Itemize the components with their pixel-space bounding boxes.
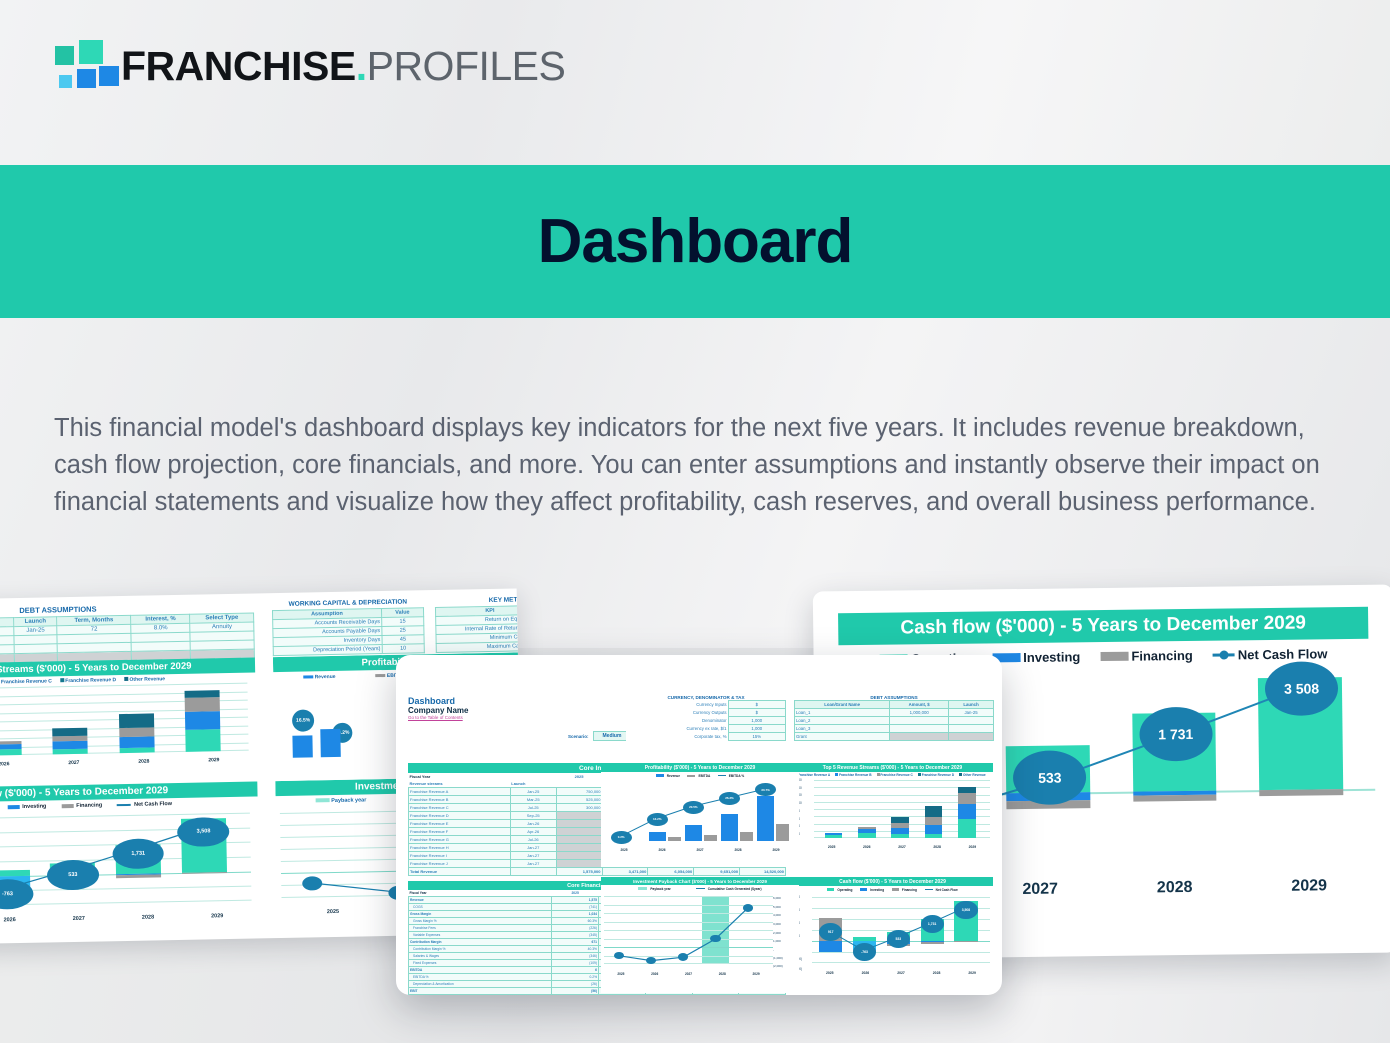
cell: Franchise Revenue G — [409, 836, 511, 844]
center-currency-block[interactable]: CURRENCY, DENOMINATOR & TAX Currency Inp… — [626, 695, 786, 741]
cell: Contribution Margin % — [409, 946, 552, 953]
cell: (24) — [739, 995, 786, 996]
legend-item: Franchise Revenue B — [835, 773, 871, 777]
company-name: Company Name — [408, 706, 468, 715]
page-title: Dashboard — [538, 206, 853, 277]
table-row: Total Revenue1,575,0003,471,0006,054,000… — [409, 868, 786, 876]
cell: (226) — [552, 925, 599, 932]
legend-item: EBITDA — [687, 774, 710, 778]
cell: 1,034 — [552, 911, 599, 918]
cell[interactable]: 15% — [728, 733, 785, 741]
cell: Contribution Margin — [409, 939, 552, 946]
cell: Franchise Revenue B — [409, 796, 511, 804]
table-row: Corporate tax, %15% — [626, 733, 786, 741]
section-title: KEY METRICS — [435, 595, 523, 605]
chart-plot: 16,000 14,000 12,000 10,000 8,000 6,000 … — [792, 778, 993, 848]
cell: Franchise Revenue J — [409, 860, 511, 868]
center-profitability-chart[interactable]: Profitability ($'000) - 5 Years to Decem… — [601, 763, 799, 867]
brand-name-dot: . — [356, 43, 367, 89]
cell: 1,575,000 — [556, 868, 602, 876]
legend-item: Financing — [892, 888, 917, 892]
col-head: Launch — [949, 701, 994, 709]
cell — [949, 733, 994, 741]
x-axis: 2025 2026 2027 2028 2029 — [0, 913, 252, 926]
cell: Total Revenue — [409, 868, 511, 876]
cell[interactable] — [890, 717, 949, 725]
legend-item: Franchise Revenue D — [60, 677, 116, 684]
left-cashflow-chart[interactable]: Cash flow ($'000) - 5 Years to December … — [0, 781, 260, 938]
cell: 1,575 — [552, 897, 599, 904]
data-label: 3,508 — [954, 901, 977, 919]
cell: 6 — [552, 967, 599, 974]
chart-title: Investment Payback Chart ($'000) - 5 Yea… — [601, 877, 799, 885]
cell[interactable]: Jan-25 — [949, 709, 994, 717]
cell[interactable]: Apr-26 — [510, 828, 556, 836]
cell[interactable] — [890, 725, 949, 733]
chart-title: Profitability ($'000) - 5 Years to Decem… — [601, 763, 799, 772]
center-revenue-streams-chart[interactable]: Top 5 Revenue Streams ($'000) - 5 Years … — [792, 763, 993, 867]
cell: Currency Outputs — [626, 709, 728, 717]
table-row: Currency ex rate, $/11,000 — [626, 725, 786, 733]
legend-item: Other Revenue — [959, 773, 986, 777]
cell — [890, 733, 949, 741]
cell: Depreciation Period (Years) — [273, 645, 382, 656]
legend-item: Payback year — [638, 887, 670, 891]
brand-logo: FRANCHISE.PROFILES — [55, 40, 565, 92]
scenario-label: Scenario: — [568, 734, 589, 739]
fiscal-year-label: Fiscal Year — [409, 773, 511, 780]
cell: Revenue — [409, 897, 552, 904]
chart-legend: Revenue EBITDA EBITDA % — [601, 772, 799, 779]
table-row: Loan_11,000,000Jan-25 — [795, 709, 994, 717]
table-row: Currency Outputs$ — [626, 709, 786, 717]
left-revenue-streams-chart[interactable]: Top 5 Revenue Streams ($'000) - 5 Years … — [0, 657, 257, 783]
cell — [556, 820, 602, 828]
cell: EBIT — [409, 988, 552, 995]
cell: Franchise Revenue F — [409, 828, 511, 836]
legend-item: Investing — [7, 804, 46, 811]
cell: Gross Margin % — [409, 918, 552, 925]
cell: 60.3% — [552, 918, 599, 925]
cell: (7) — [552, 995, 599, 996]
table-row: Loan_3 — [795, 725, 994, 733]
cell: (346) — [552, 953, 599, 960]
description-text: This financial model's dashboard display… — [54, 410, 1344, 521]
cell: Franchise Revenue A — [409, 788, 511, 796]
table-row: Loan_2 — [795, 717, 994, 725]
x-axis: 2025 2026 2027 2028 2029 — [0, 757, 249, 770]
cell — [510, 868, 556, 876]
legend-item: EBITDA % — [718, 774, 744, 778]
cell: (64) — [599, 995, 646, 996]
legend-item: Franchise Revenue D — [918, 773, 954, 777]
chart-plot: 16,000 14,000 12,000 10,000 8,000 6,000 … — [0, 683, 253, 768]
cell: Corporate tax, % — [626, 733, 728, 741]
chart-plot: 6,000 5,000 4,000 3,000 2,000 1,000 - (1… — [601, 892, 799, 976]
col-head: Launch — [510, 780, 556, 788]
legend-item: Franchise Revenue C — [877, 773, 913, 777]
cell: 14,520,000 — [740, 868, 786, 876]
legend-item: Net Cash Flow — [117, 801, 172, 808]
cell[interactable]: 300,000 — [556, 804, 602, 812]
chart-title: Cash flow ($'000) - 5 Years to December … — [792, 877, 993, 886]
title-band: Dashboard — [0, 165, 1390, 318]
cell[interactable]: Loan_3 — [795, 725, 890, 733]
cell[interactable] — [949, 717, 994, 725]
cell[interactable]: 750,000 — [556, 788, 602, 796]
data-label-2028: 1 731 — [1139, 707, 1212, 762]
squares-logo-icon — [55, 40, 107, 92]
left-key-metrics[interactable]: KEY METRICS KPIValue Return on Equity (R… — [435, 595, 523, 653]
table-row: Interest Expense(7)(64)(5)(2)(24) — [409, 995, 786, 996]
cell: 40.3% — [552, 946, 599, 953]
chart-plot: 4,000 3,000 2,000 1,000 - (1,000) (2,000… — [792, 893, 993, 975]
toc-link[interactable]: Go to the Table of Contents — [408, 715, 468, 720]
legend-item-investing: Investing — [992, 649, 1080, 665]
legend-item: Revenue — [303, 674, 335, 681]
data-label: 20.5% — [683, 801, 704, 814]
legend-item: Payback year — [316, 797, 367, 804]
legend-item-net-cash-flow: Net Cash Flow — [1213, 646, 1328, 662]
cell: Currency Inputs — [626, 701, 728, 709]
data-label: 26.3% — [719, 792, 740, 805]
cell — [556, 860, 602, 868]
cell — [556, 844, 602, 852]
brand-name-light: PROFILES — [367, 43, 566, 89]
legend-item: Financing — [61, 802, 102, 809]
cell: 3,471,000 — [602, 868, 648, 876]
cell: 0.2% — [552, 974, 599, 981]
cell[interactable]: Jan-25 — [510, 788, 556, 796]
cell[interactable]: Jan-27 — [510, 844, 556, 852]
cell[interactable]: Loan_2 — [795, 717, 890, 725]
cell[interactable]: Jan-26 — [510, 820, 556, 828]
col-head: Revenue streams — [409, 780, 511, 788]
cell: Franchise Revenue D — [409, 812, 511, 820]
cell: Franchise Revenue H — [409, 844, 511, 852]
cell[interactable] — [949, 725, 994, 733]
cell: Depreciation & Amortization — [409, 981, 552, 988]
col-head: Loan/Grant Name — [795, 701, 890, 709]
cell[interactable]: 525,000 — [556, 796, 602, 804]
cell: EBITDA — [409, 967, 552, 974]
cell: Franchise Revenue C — [409, 804, 511, 812]
legend-item: Cumulative Cash Generated ($year) — [696, 887, 762, 891]
cell: 6,054,000 — [648, 868, 694, 876]
cell: Interest Expense — [409, 995, 552, 996]
table-row: Denominator1,000 — [626, 717, 786, 725]
page-header: FRANCHISE.PROFILES — [0, 0, 1390, 165]
legend-item: Revenue — [656, 774, 680, 778]
data-label: 533 — [887, 930, 910, 948]
center-doc-header: Dashboard Company Name Go to the Table o… — [408, 696, 468, 720]
cell: 671 — [552, 939, 599, 946]
left-working-capital[interactable]: WORKING CAPITAL & DEPRECIATION Assumptio… — [272, 598, 425, 656]
cell[interactable]: Jan-27 — [510, 852, 556, 860]
table-row: Maximum Cash ($'000)138.5 — [436, 641, 523, 653]
cell: EBITDA % — [409, 974, 552, 981]
cell: Currency ex rate, $/1 — [626, 725, 728, 733]
cell: 9,651,000 — [694, 868, 740, 876]
cell: Fixed Expenses — [409, 960, 552, 967]
legend-item: Other Revenue — [124, 676, 165, 683]
cell[interactable]: 1,000 — [728, 717, 785, 725]
cell[interactable]: Jul-25 — [510, 804, 556, 812]
center-debt-block[interactable]: DEBT ASSUMPTIONS Loan/Grant NameAmount, … — [794, 695, 994, 741]
cell: Variable Expenses — [409, 932, 552, 939]
cell: Salaries & Wages — [409, 953, 552, 960]
legend-item: Net Cash Flow — [925, 888, 958, 892]
data-label: 1,731 — [921, 915, 944, 933]
chart-legend: Payback year Cumulative Cash Generated (… — [601, 885, 799, 892]
legend-item: Franchise Revenue C — [0, 678, 52, 685]
legend-item: EBIT — [375, 673, 398, 679]
legend-item-financing: Financing — [1100, 648, 1193, 664]
table-row: Currency Inputs$ — [626, 701, 786, 709]
cell[interactable]: 10 — [382, 644, 424, 654]
center-payback-chart[interactable]: Investment Payback Chart ($'000) - 5 Yea… — [601, 877, 799, 993]
data-label: -763 — [853, 943, 876, 961]
cell: Maximum Cash ($'000) — [436, 641, 523, 652]
cell — [556, 812, 602, 820]
chart-plot: 0.2% 13.2% 20.5% 26.3% 30.7% 2025 2026 2… — [605, 779, 795, 851]
brand-wordmark: FRANCHISE.PROFILES — [121, 43, 565, 90]
cell[interactable]: 1,000,000 — [890, 709, 949, 717]
legend-item: Operating — [827, 888, 852, 892]
cell: COGS — [409, 904, 552, 911]
cell[interactable]: Jul-26 — [510, 836, 556, 844]
cell[interactable]: Grant — [795, 733, 890, 741]
cell — [556, 828, 602, 836]
left-debt-assumptions[interactable]: DEBT ASSUMPTIONS Loan/Grant Name Amount,… — [0, 601, 255, 666]
col-head: 2025 — [556, 773, 602, 780]
chart-title: Top 5 Revenue Streams ($'000) - 5 Years … — [792, 763, 993, 772]
cell[interactable]: 1,000 — [728, 725, 785, 733]
center-cashflow-chart[interactable]: Cash flow ($'000) - 5 Years to December … — [792, 877, 993, 993]
cell — [556, 836, 602, 844]
table-row: Grant — [795, 733, 994, 741]
cell: Franchise Revenue I — [409, 852, 511, 860]
scenario-selector[interactable]: Scenario: Medium — [568, 731, 631, 741]
legend-item: Investing — [860, 888, 884, 892]
legend-item: Franchise Revenue A — [794, 773, 830, 777]
cell: (741) — [552, 904, 599, 911]
cell: (2) — [692, 995, 739, 996]
data-label: 13.2% — [647, 813, 668, 826]
cell: (109) — [552, 960, 599, 967]
cell: Franchise Revenue E — [409, 820, 511, 828]
cell[interactable]: $ — [728, 709, 785, 717]
col-head: Amount, $ — [890, 701, 949, 709]
cell: Gross Margin — [409, 911, 552, 918]
brand-name-bold: FRANCHISE — [121, 43, 356, 89]
cell: (5) — [645, 995, 692, 996]
doc-title: Dashboard — [408, 696, 468, 706]
cell: (56) — [552, 988, 599, 995]
cell: (345) — [552, 932, 599, 939]
chart-legend: Operating Investing Financing Net Cash F… — [792, 886, 993, 893]
cell — [556, 852, 602, 860]
cell: Denominator — [626, 717, 728, 725]
cell[interactable]: Mar-25 — [510, 796, 556, 804]
cell: Franchise Fees — [409, 925, 552, 932]
cell[interactable]: Loan_1 — [795, 709, 890, 717]
cell[interactable]: Jan-27 — [510, 860, 556, 868]
chart-plot: 4,000 3,000 2,000 1,000 - (1,000) (2,000… — [0, 809, 256, 926]
data-label: 0.2% — [611, 831, 632, 844]
cell[interactable]: Sep-25 — [510, 812, 556, 820]
cell[interactable]: $ — [728, 701, 785, 709]
cell: (26) — [552, 981, 599, 988]
